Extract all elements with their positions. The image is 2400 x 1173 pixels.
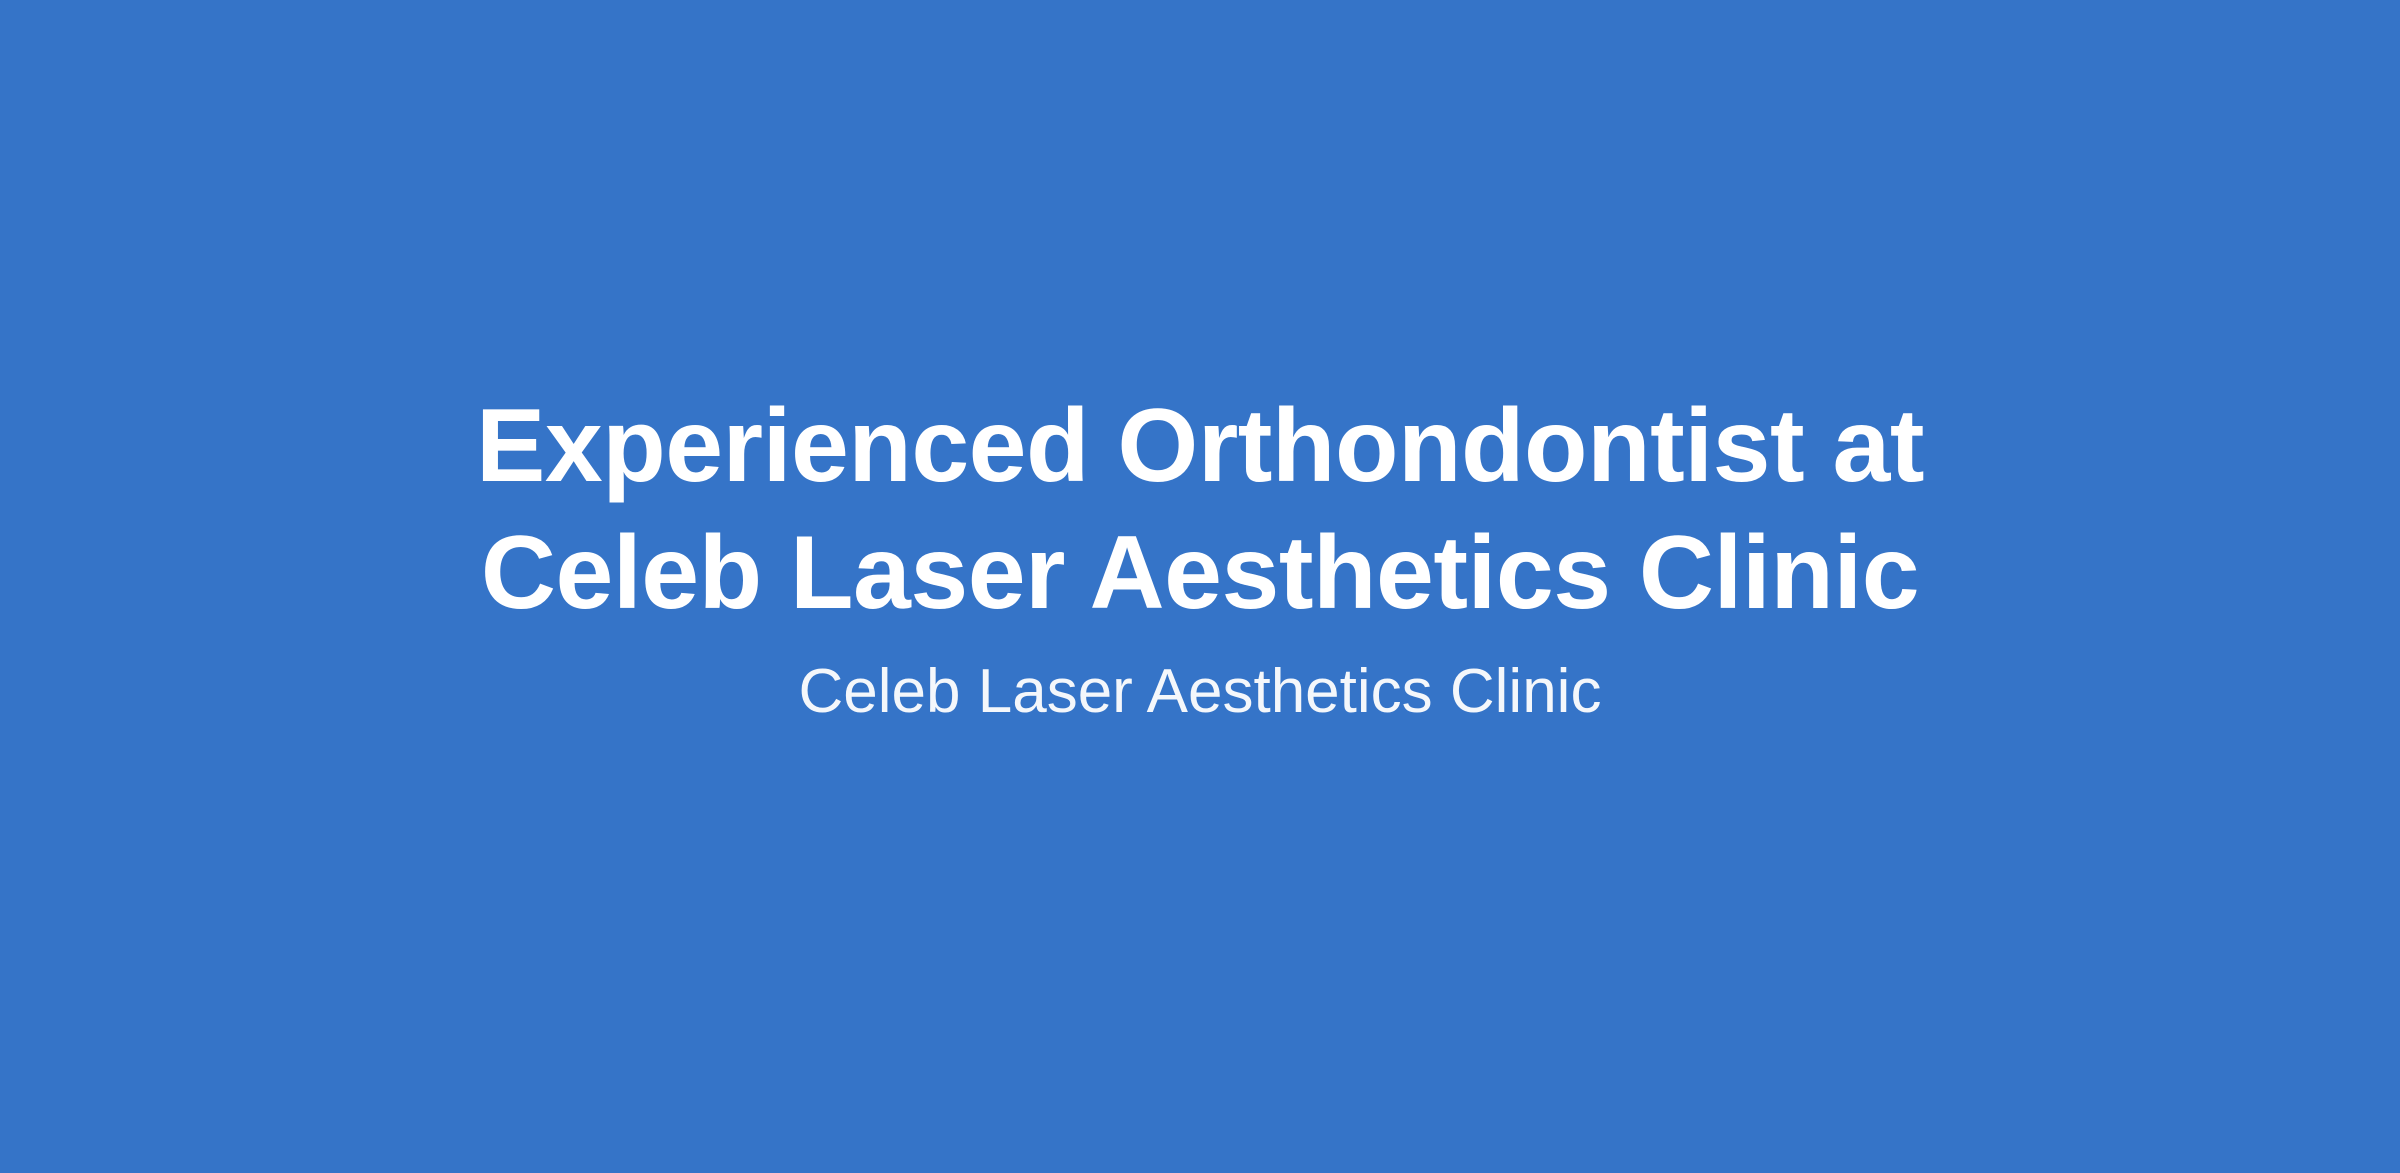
title-block: Experienced Orthondontist at Celeb Laser… <box>350 383 2050 729</box>
subtitle: Celeb Laser Aesthetics Clinic <box>350 655 2050 729</box>
page-title: Experienced Orthondontist at Celeb Laser… <box>350 383 2050 637</box>
title-card-slide: Experienced Orthondontist at Celeb Laser… <box>0 0 2400 1173</box>
